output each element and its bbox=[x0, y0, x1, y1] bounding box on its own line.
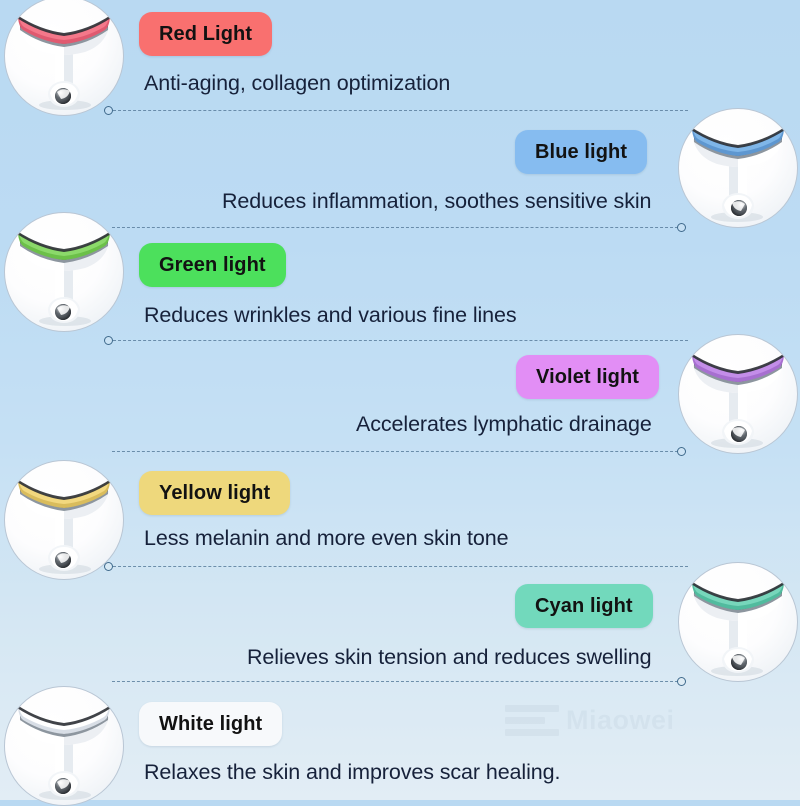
mode-description-red: Anti-aging, collagen optimization bbox=[144, 71, 450, 96]
mode-badge-green[interactable]: Green light bbox=[139, 243, 286, 287]
connector-dot-red bbox=[104, 106, 113, 115]
device-thumbnail-cyan bbox=[678, 562, 798, 682]
connector-dot-green bbox=[104, 336, 113, 345]
connector-line-yellow bbox=[113, 566, 688, 568]
led-modes-infographic: Red LightAnti-aging, collagen optimizati… bbox=[0, 0, 800, 800]
mode-badge-blue[interactable]: Blue light bbox=[515, 130, 647, 174]
device-thumbnail-red bbox=[4, 0, 124, 116]
mode-description-white: Relaxes the skin and improves scar heali… bbox=[144, 760, 560, 785]
connector-line-cyan bbox=[112, 681, 678, 683]
device-thumbnail-green bbox=[4, 212, 124, 332]
mode-description-cyan: Relieves skin tension and reduces swelli… bbox=[247, 645, 652, 670]
mode-description-violet: Accelerates lymphatic drainage bbox=[356, 412, 652, 437]
mode-badge-white[interactable]: White light bbox=[139, 702, 282, 746]
mode-badge-cyan[interactable]: Cyan light bbox=[515, 584, 653, 628]
device-thumbnail-violet bbox=[678, 334, 798, 454]
mode-badge-red[interactable]: Red Light bbox=[139, 12, 272, 56]
mode-description-yellow: Less melanin and more even skin tone bbox=[144, 526, 509, 551]
mode-description-green: Reduces wrinkles and various fine lines bbox=[144, 303, 517, 328]
connector-dot-cyan bbox=[677, 677, 686, 686]
connector-line-violet bbox=[112, 451, 678, 453]
connector-line-red bbox=[113, 110, 688, 112]
connector-dot-blue bbox=[677, 223, 686, 232]
mode-description-blue: Reduces inflammation, soothes sensitive … bbox=[222, 189, 651, 214]
device-thumbnail-white bbox=[4, 686, 124, 806]
mode-badge-violet[interactable]: Violet light bbox=[516, 355, 659, 399]
mode-badge-yellow[interactable]: Yellow light bbox=[139, 471, 290, 515]
device-thumbnail-blue bbox=[678, 108, 798, 228]
connector-dot-violet bbox=[677, 447, 686, 456]
connector-line-green bbox=[113, 340, 688, 342]
device-thumbnail-yellow bbox=[4, 460, 124, 580]
connector-line-blue bbox=[112, 227, 678, 229]
